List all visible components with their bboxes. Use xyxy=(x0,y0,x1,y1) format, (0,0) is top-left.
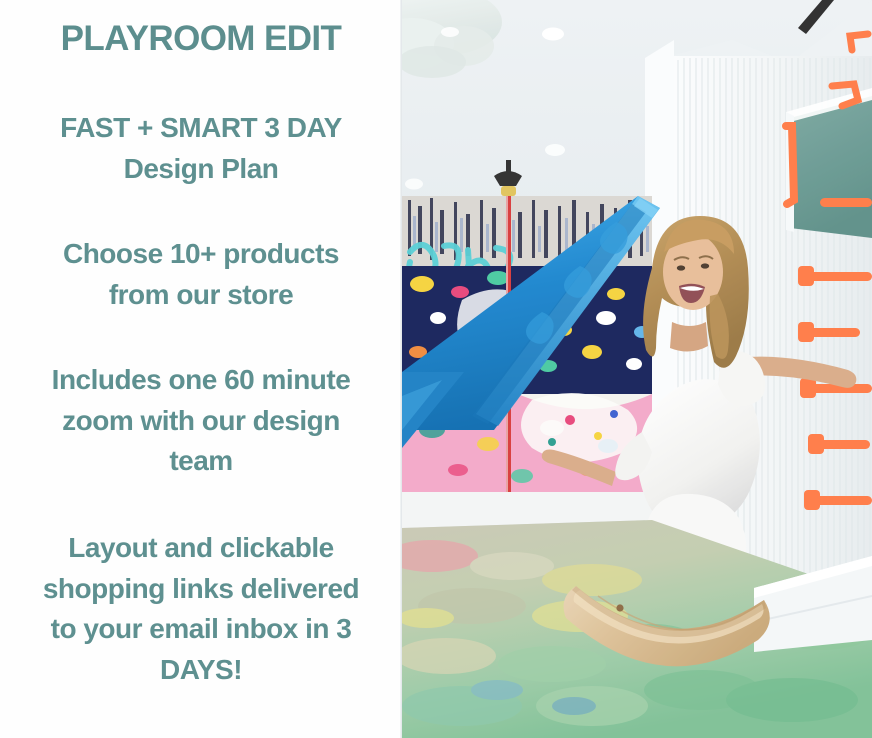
promo-graphic: PLAYROOM EDIT FAST + SMART 3 DAY Design … xyxy=(0,0,872,738)
playroom-photo xyxy=(402,0,872,738)
text-panel: PLAYROOM EDIT FAST + SMART 3 DAY Design … xyxy=(0,0,402,738)
offer-line-plan: FAST + SMART 3 DAY Design Plan xyxy=(0,108,402,189)
offer-line-zoom-call: Includes one 60 minute zoom with our des… xyxy=(0,360,402,482)
offer-line-products: Choose 10+ products from our store xyxy=(0,234,402,315)
page-title: PLAYROOM EDIT xyxy=(0,20,402,58)
scene-root xyxy=(402,0,872,738)
offer-line-delivery: Layout and clickable shopping links deli… xyxy=(0,528,402,690)
